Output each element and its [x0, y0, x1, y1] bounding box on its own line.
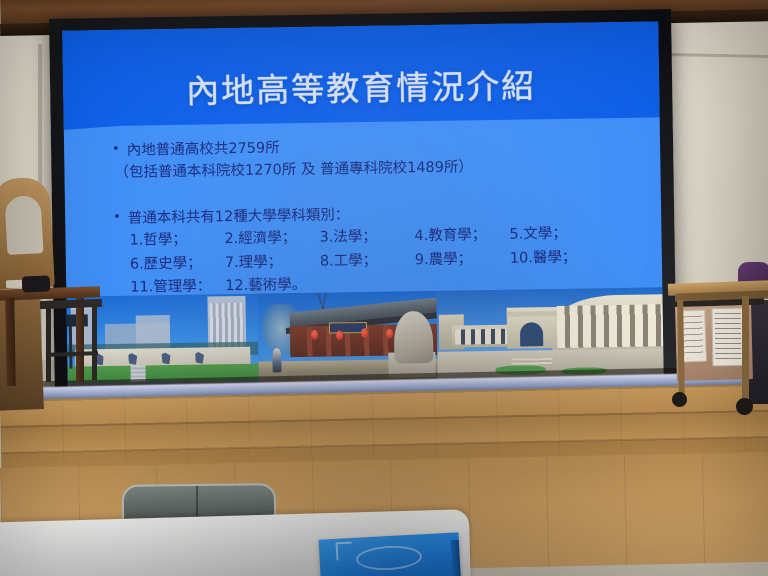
posted-paper-right-text — [715, 313, 742, 361]
book-cover-mark — [336, 542, 353, 561]
discipline-item: 1.哲學； — [129, 228, 224, 253]
left-table-device — [22, 276, 51, 293]
discipline-item: 6.歷史學； — [130, 252, 225, 277]
podium-cart-leg-2 — [742, 296, 749, 404]
presentation-slide: 內地高等教育情況介紹 • 內地普通高校共2759所 （包括普通本科院校1270所… — [62, 21, 664, 388]
discipline-item: 9.農學； — [415, 247, 510, 272]
bullet-marker-2: • — [113, 207, 121, 227]
bullet-text-1: 內地普通高校共2759所 — [127, 137, 280, 162]
left-table-leg-back — [76, 298, 84, 382]
bullet-marker-1: • — [112, 140, 120, 160]
slide-body: • 內地普通高校共2759所 （包括普通本科院校1270所 及 普通專科院校14… — [112, 132, 634, 301]
podium-cart-wheel-1 — [672, 392, 687, 407]
slide-title: 內地高等教育情況介紹 — [63, 57, 660, 114]
traditional-gate-photo — [257, 291, 437, 386]
discipline-item: 8.工學； — [320, 249, 415, 274]
left-table-leg-front — [5, 298, 16, 386]
projection-screen-bezel: 內地高等教育情況介紹 • 內地普通高校共2759所 （包括普通本科院校1270所… — [49, 9, 677, 401]
discipline-item: 7.理學； — [225, 250, 320, 275]
posted-paper-left-text — [682, 316, 703, 359]
discipline-item: 10.醫學； — [510, 246, 577, 271]
podium-cart-wheel-2 — [736, 398, 753, 415]
classroom-scene: 內地高等教育情況介紹 • 內地普通高校共2759所 （包括普通本科院校1270所… — [0, 0, 768, 576]
discipline-item: 4.教育學； — [414, 224, 509, 249]
left-chair-cutout — [5, 195, 44, 255]
left-stool-leg-2 — [92, 306, 97, 380]
chair-seam — [196, 486, 198, 520]
left-stool-leg-1 — [46, 306, 51, 382]
discipline-item: 2.經濟學； — [224, 227, 319, 252]
discipline-item: 3.法學； — [319, 225, 414, 250]
discipline-item: 5.文學； — [509, 223, 567, 247]
projection-screen[interactable]: 內地高等教育情況介紹 • 內地普通高校共2759所 （包括普通本科院校1270所… — [62, 21, 664, 388]
